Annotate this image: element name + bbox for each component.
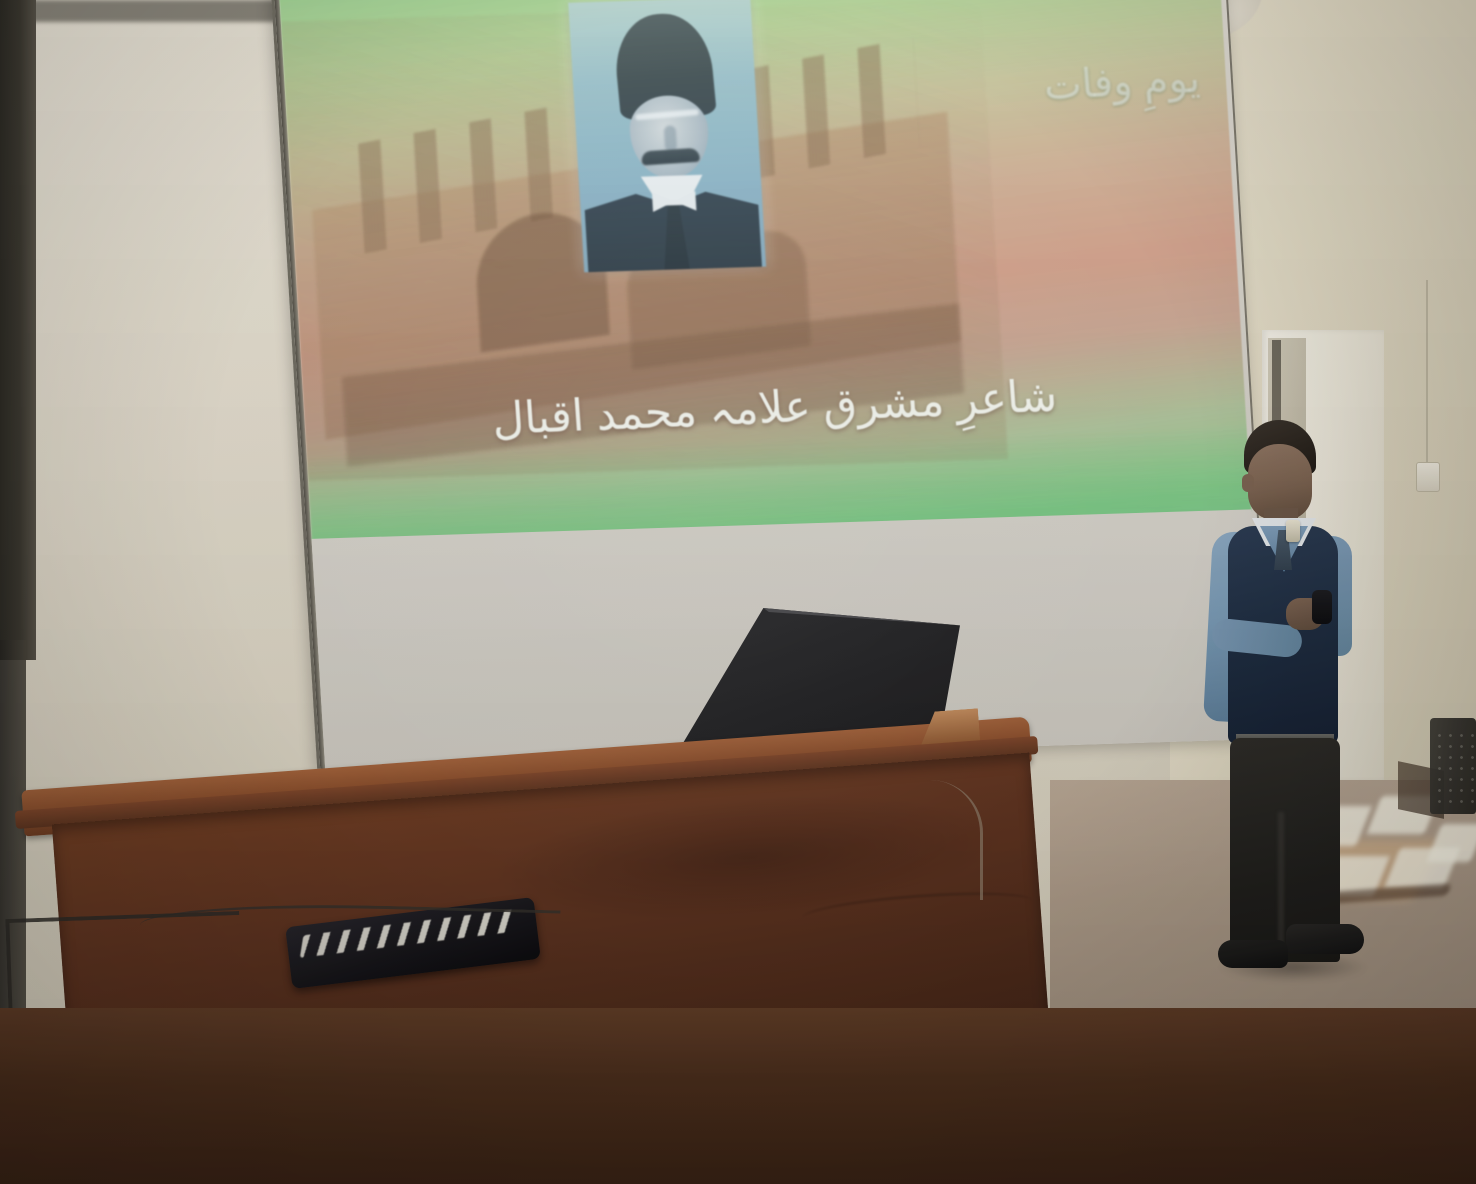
school-badge [1286, 520, 1300, 542]
slide-heading: یومِ وفات [1042, 56, 1201, 110]
student-presenter [1190, 412, 1410, 992]
portrait-allama-iqbal [568, 0, 766, 272]
student-ear [1242, 474, 1254, 492]
wall-switch[interactable] [1416, 462, 1440, 492]
classroom-presentation-photo: یومِ وفات شاعرِ مشرق علامہ محمد اقبال [0, 0, 1476, 1184]
microphone-icon [1312, 590, 1332, 624]
waste-bin-mesh [1434, 730, 1476, 806]
switch-cord [1426, 280, 1428, 462]
student-shoe-left [1218, 940, 1288, 968]
student-shoe-right [1286, 924, 1364, 954]
portrait-nose [664, 125, 678, 151]
foreground-floor [0, 1008, 1476, 1184]
projected-slide: یومِ وفات شاعرِ مشرق علامہ محمد اقبال [278, 0, 1251, 541]
